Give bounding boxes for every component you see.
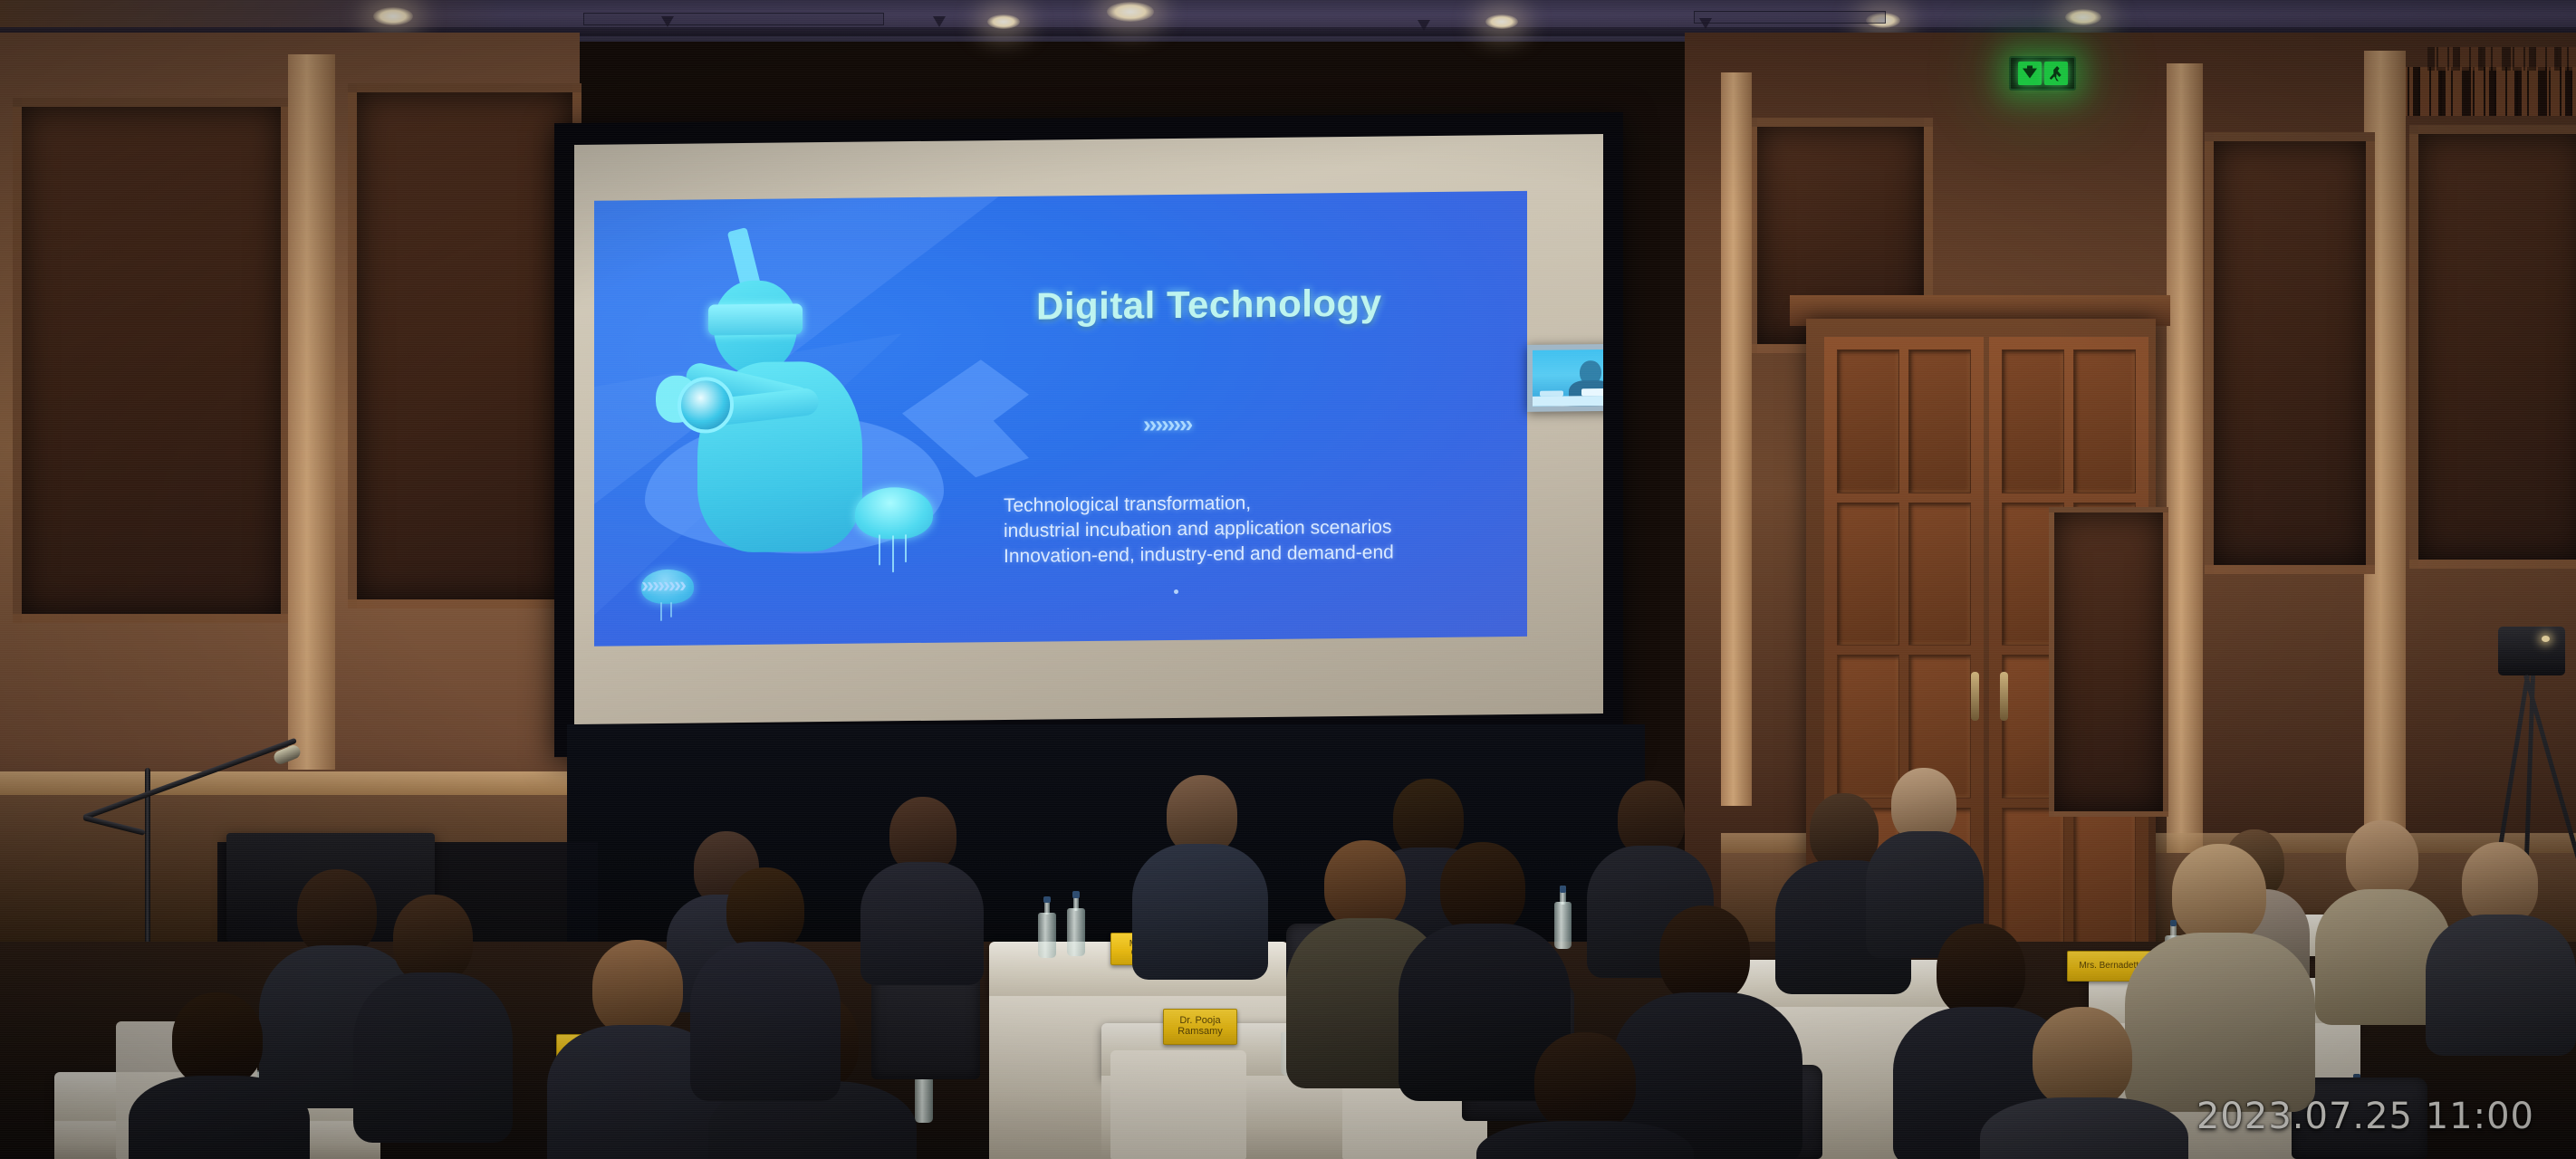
ceiling-air-slot <box>1694 11 1886 24</box>
slide-body-line-3: Innovation-end, industry-end and demand-… <box>1004 540 1394 570</box>
attendee-head <box>2462 842 2538 925</box>
attendee <box>1866 768 1984 949</box>
slide-title: Digital Technology <box>1036 282 1382 329</box>
attendee-head <box>1937 924 2025 1018</box>
wall-panel <box>2205 132 2375 574</box>
attendee-torso <box>2426 915 2576 1056</box>
vr-headset-visor <box>708 303 803 335</box>
presentation-slide: Digital Technology ›››››››› Technologica… <box>594 191 1527 647</box>
conference-room-photo: Digital Technology ›››››››› Technologica… <box>0 0 2576 1159</box>
pip-desk <box>1533 396 1603 407</box>
attendee-head <box>726 867 804 953</box>
door-panel <box>1908 350 1971 493</box>
attendee-head <box>1659 905 1750 1003</box>
attendee-head <box>2346 820 2418 898</box>
wall-frieze <box>2388 67 2576 116</box>
attendee <box>129 992 310 1159</box>
attendee-head <box>393 895 473 983</box>
slide-body-line-1: Technological transformation, <box>1004 491 1251 520</box>
exit-running-man-icon <box>2044 62 2068 85</box>
attendee-head <box>2033 1007 2132 1108</box>
wall-panel <box>13 98 290 623</box>
pip-nameplate <box>1581 388 1603 396</box>
chair-cover <box>1110 1050 1246 1159</box>
door-panel <box>2073 350 2136 493</box>
attendee <box>690 867 841 1094</box>
attendee-head <box>1534 1032 1636 1132</box>
ceiling-downlight <box>373 7 413 25</box>
exit-sign <box>2009 56 2076 91</box>
projection-screen-surface: Digital Technology ›››››››› Technologica… <box>574 134 1603 724</box>
water-bottle <box>1067 891 1085 956</box>
ceiling-downlight <box>2065 9 2101 25</box>
attendee-head <box>2172 844 2266 943</box>
ceiling-downlight <box>1485 14 1518 29</box>
attendee-torso <box>690 942 841 1101</box>
door-handle[interactable] <box>1971 672 1979 721</box>
door-panel <box>1908 503 1971 647</box>
attendee-torso <box>129 1076 310 1159</box>
exit-down-arrow-icon <box>2018 62 2042 85</box>
ceiling-downlight <box>1107 2 1154 22</box>
pip-papers <box>1540 391 1563 397</box>
attendee-head <box>172 992 263 1087</box>
camera-lens <box>678 377 734 434</box>
attendee-head <box>1167 775 1237 855</box>
camera-timestamp: 2023.07.25 11:00 <box>2196 1096 2534 1137</box>
wall-frieze <box>2427 47 2576 71</box>
water-bottle <box>1038 896 1056 958</box>
wall-panel <box>348 83 582 608</box>
wall-pilaster <box>2167 63 2203 860</box>
jellyfish <box>855 487 933 571</box>
ceiling-air-slot <box>583 13 884 25</box>
slide-artwork-vr-diver <box>630 215 1011 617</box>
door-panel <box>1837 350 1899 493</box>
attendee <box>1132 775 1268 974</box>
video-camera-body <box>2498 627 2565 675</box>
pip-video-image <box>1533 350 1603 407</box>
wall-pilaster <box>288 54 335 770</box>
attendee <box>860 797 984 978</box>
placard-subtitle: Ramsamy <box>1177 1027 1223 1038</box>
attendee-head <box>592 940 683 1036</box>
attendee-torso <box>353 972 513 1143</box>
door-handle[interactable] <box>2000 672 2008 721</box>
slide-chevrons-left: ›››››››› <box>641 573 685 599</box>
wall-pilaster <box>1721 72 1752 806</box>
attendee-head <box>1324 840 1406 929</box>
pip-video-feed <box>1527 344 1603 412</box>
attendee <box>1476 1032 1694 1159</box>
camera-tally-light-icon <box>2542 636 2550 642</box>
attendee <box>353 895 513 1139</box>
wall-alcove <box>2049 507 2168 817</box>
wall-panel <box>2409 125 2576 569</box>
slide-chevrons-right: ›››››››› <box>1143 410 1191 439</box>
door-panel <box>2002 350 2064 493</box>
attendee <box>2426 842 2576 1050</box>
ceiling-downlight <box>987 14 1020 29</box>
attendee-head <box>1440 842 1525 934</box>
attendee-torso <box>860 862 984 985</box>
attendee-torso <box>1476 1121 1694 1159</box>
wall-dado-rail <box>0 771 580 795</box>
attendee-torso <box>1132 844 1268 980</box>
attendee <box>1980 1007 2188 1159</box>
name-placard: Dr. Pooja Ramsamy <box>1163 1009 1237 1045</box>
attendee-torso <box>1980 1097 2188 1159</box>
slide-decor-dot <box>1174 589 1178 594</box>
door-panel <box>1837 503 1899 647</box>
